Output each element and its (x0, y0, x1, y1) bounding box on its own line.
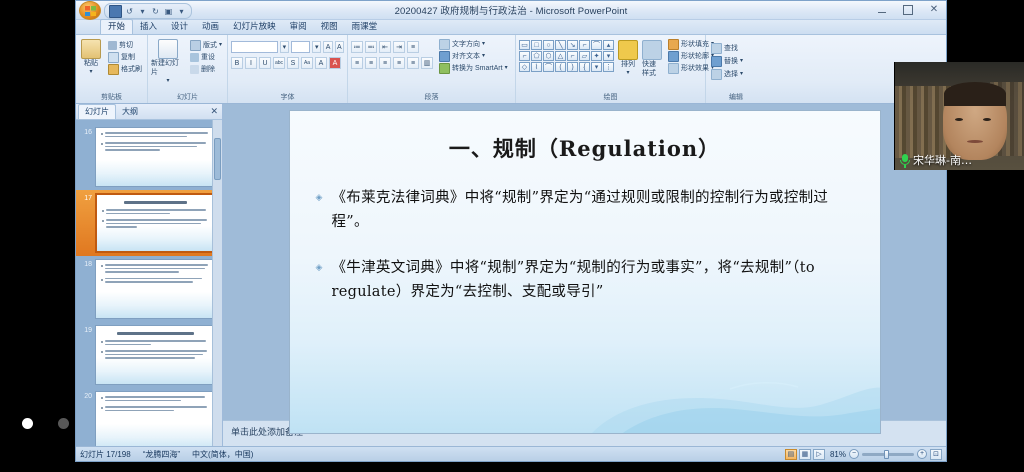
scrollbar-thumb[interactable] (214, 138, 221, 180)
bullets-button[interactable]: ≔ (351, 41, 363, 53)
format-painter-button[interactable]: 格式刷 (106, 64, 144, 75)
tab-home[interactable]: 开始 (100, 19, 133, 34)
thumb-bullet (101, 132, 210, 139)
justify-button[interactable]: ≡ (393, 57, 405, 69)
window-title: 20200427 政府规制与行政法治 - Microsoft PowerPoin… (76, 3, 946, 17)
italic-button[interactable]: I (245, 57, 257, 69)
select-label: 选择 (724, 69, 738, 80)
work-area: 幻灯片 大纲 ✕ 16 17 (76, 104, 946, 446)
zoom-out-button[interactable]: − (849, 449, 859, 459)
view-sorter-button[interactable]: ▦ (799, 449, 811, 460)
distribute-button[interactable]: ≡ (407, 57, 419, 69)
thumb-bullet (101, 142, 210, 153)
shadow-button[interactable]: S (287, 57, 299, 69)
replace-dropdown-icon[interactable]: ▾ (740, 56, 743, 67)
shape-callout-icon[interactable]: ▱ (579, 51, 590, 61)
view-slideshow-button[interactable]: ▷ (813, 449, 825, 460)
thumbnail-number: 17 (78, 193, 95, 202)
screen: ↺ ▾ ↻ ▣ ▾ 20200427 政府规制与行政法治 - Microsoft… (0, 0, 1024, 472)
select-dropdown-icon[interactable]: ▾ (740, 69, 743, 80)
increase-indent-button[interactable]: ⇥ (393, 41, 405, 53)
quick-styles-icon (642, 40, 662, 60)
replace-icon (711, 56, 722, 67)
thumbnail-19[interactable]: 19 (76, 322, 222, 388)
shape-flow-icon[interactable]: ⌇ (531, 62, 542, 72)
speaker-hair (944, 82, 1006, 106)
ribbon-group-paragraph: ≔ ≕ ⇤ ⇥ ≡ ≡ ≡ ≡ ≡ ≡ ▥ (348, 35, 516, 103)
thumbnail-list[interactable]: 16 17 (76, 120, 222, 446)
shape-diamond-icon[interactable]: ◇ (519, 62, 530, 72)
maximize-icon (903, 5, 913, 15)
tab-outline-pane[interactable]: 大纲 (116, 105, 144, 119)
tab-design[interactable]: 设计 (164, 20, 195, 34)
bold-button[interactable]: B (231, 57, 243, 69)
tab-animations[interactable]: 动画 (195, 20, 226, 34)
tab-slideshow[interactable]: 幻灯片放映 (226, 20, 283, 34)
shape-more-icon[interactable]: ▾ (591, 62, 602, 72)
shape-pent-icon[interactable]: ⬠ (531, 51, 542, 61)
thumbnail-number: 18 (78, 259, 95, 268)
shape-paren2-icon[interactable]: ) (567, 62, 578, 72)
replace-label: 替换 (724, 56, 738, 67)
text-direction-icon (439, 39, 450, 50)
thumbnail-preview (95, 391, 216, 446)
copy-button[interactable]: 复制 (106, 52, 144, 63)
shape-square-icon[interactable]: □ (531, 40, 542, 50)
paintbrush-icon (108, 64, 119, 75)
layout-button[interactable]: 版式 ▾ (188, 40, 224, 51)
shape-curve-icon[interactable]: ⌒ (591, 40, 602, 50)
smartart-dropdown-icon[interactable]: ▾ (505, 63, 508, 74)
shape-outline-label: 形状轮廓 (681, 51, 709, 62)
font-color-button[interactable]: A (329, 57, 341, 69)
shape-elbow-icon[interactable]: ⌐ (519, 51, 530, 61)
fit-to-window-button[interactable]: ⊡ (930, 449, 942, 460)
quick-styles-label: 快速样式 (642, 60, 662, 78)
slide-bullet-2-text: 《牛津英文词典》中将“规制”界定为“规制的行为或事实”，将“去规制”（to re… (332, 257, 856, 305)
text-direction-dropdown-icon[interactable]: ▾ (482, 39, 485, 50)
shape-rect-icon[interactable]: ▭ (519, 40, 530, 50)
thumbnail-18[interactable]: 18 (76, 256, 222, 322)
thumbnail-number: 19 (78, 325, 95, 334)
group-label-slides: 幻灯片 (148, 93, 227, 103)
group-label-drawing: 绘图 (516, 93, 705, 103)
align-right-button[interactable]: ≡ (379, 57, 391, 69)
select-button[interactable]: 选择 ▾ (709, 69, 763, 80)
shape-arc-icon[interactable]: ⌒ (543, 62, 554, 72)
group-label-clipboard: 剪贴板 (76, 93, 147, 103)
panel-tabs: 幻灯片 大纲 ✕ (76, 104, 222, 120)
thumbnail-preview (95, 127, 216, 187)
font-size-input[interactable] (291, 41, 310, 53)
align-left-button[interactable]: ≡ (351, 57, 363, 69)
bullet-glyph-icon: ◈ (316, 263, 325, 305)
dot-2[interactable] (58, 418, 69, 429)
zoom-control: 81% − + ⊡ (830, 449, 942, 460)
slide-canvas[interactable]: 一、规制（Regulation） ◈ 《布莱克法律词典》中将“规制”界定为“通过… (223, 104, 946, 420)
speaker-eye-right (983, 118, 991, 121)
speaker-mouth (967, 140, 983, 143)
new-slide-button[interactable]: 新建幻灯片 ▾ (151, 39, 185, 86)
find-icon (711, 43, 722, 54)
status-language[interactable]: 中文(简体，中国) (192, 449, 253, 460)
select-icon (711, 69, 722, 80)
layout-label: 版式 (203, 40, 217, 51)
zoom-in-button[interactable]: + (917, 449, 927, 459)
shape-oval-icon[interactable]: ○ (543, 40, 554, 50)
maximize-button[interactable] (898, 2, 918, 17)
layout-dropdown-icon[interactable]: ▾ (219, 40, 222, 51)
status-theme[interactable]: “龙腾四海” (143, 449, 180, 460)
ribbon-group-clipboard: 粘贴 ▾ 剪切 复制 格式刷 (76, 35, 148, 103)
thumbnail-preview (95, 325, 216, 385)
slide-thumbnail-panel: 幻灯片 大纲 ✕ 16 17 (76, 104, 223, 446)
cut-button[interactable]: 剪切 (106, 40, 144, 51)
reset-icon (190, 53, 199, 62)
shape-tri-icon[interactable]: △ (555, 51, 566, 61)
delete-slide-button[interactable]: 删除 (188, 64, 224, 75)
columns-button[interactable]: ▥ (421, 57, 433, 69)
status-bar: 幻灯片 17/198 “龙腾四海” 中文(简体，中国) ▤ ▦ ▷ 81% − … (76, 446, 946, 461)
change-case-button[interactable]: A (315, 57, 327, 69)
ribbon-group-slides: 新建幻灯片 ▾ 版式 ▾ 重设 (148, 35, 228, 103)
align-text-label: 对齐文本 (452, 51, 480, 62)
cut-label: 剪切 (119, 40, 133, 51)
bullet-glyph-icon: ◈ (316, 193, 325, 235)
group-label-editing: 编辑 (706, 93, 766, 103)
zoom-slider-thumb[interactable] (884, 450, 889, 459)
current-slide[interactable]: 一、规制（Regulation） ◈ 《布莱克法律词典》中将“规制”界定为“通过… (289, 110, 881, 434)
convert-smartart-button[interactable]: 转换为 SmartArt ▾ (437, 63, 510, 74)
thumb-bullet (101, 350, 210, 361)
strikethrough-button[interactable]: abc (273, 57, 285, 69)
shapes-gallery[interactable]: ▭ □ ○ ╲ ↘ ⌐ ⌒ ▴ ⌐ ⬠ ⬡ △ ⌐ ▱ ✦ (519, 40, 614, 72)
align-text-dropdown-icon[interactable]: ▾ (482, 51, 485, 62)
find-label: 查找 (724, 43, 738, 54)
shape-star-icon[interactable]: ✦ (591, 51, 602, 61)
scissors-icon (108, 41, 117, 50)
delete-icon (190, 65, 199, 74)
powerpoint-window: ↺ ▾ ↻ ▣ ▾ 20200427 政府规制与行政法治 - Microsoft… (75, 0, 947, 462)
slide-stage: 一、规制（Regulation） ◈ 《布莱克法律词典》中将“规制”界定为“通过… (223, 104, 946, 446)
replace-button[interactable]: 替换 ▾ (709, 56, 763, 67)
title-bar: ↺ ▾ ↻ ▣ ▾ 20200427 政府规制与行政法治 - Microsoft… (76, 1, 946, 20)
paste-label: 粘贴 (84, 59, 98, 68)
slide-title[interactable]: 一、规制（Regulation） (290, 133, 880, 163)
shape-scroll-down-icon[interactable]: ▾ (603, 51, 614, 61)
tab-insert[interactable]: 插入 (133, 20, 164, 34)
close-icon: ✕ (930, 4, 938, 15)
microphone-icon[interactable] (898, 153, 911, 168)
ribbon-group-font: ▾ ▾ A A B I U abc S Aa A A 字体 (228, 35, 348, 103)
new-slide-dropdown-icon[interactable]: ▾ (166, 77, 169, 86)
tab-review[interactable]: 审阅 (283, 20, 314, 34)
shape-fill-icon (668, 39, 679, 50)
paste-dropdown-icon[interactable]: ▾ (89, 68, 92, 77)
ribbon-group-drawing: ▭ □ ○ ╲ ↘ ⌐ ⌒ ▴ ⌐ ⬠ ⬡ △ ⌐ ▱ ✦ (516, 35, 706, 103)
arrange-button[interactable]: 排列 ▾ (618, 40, 638, 78)
webcam-participant-name: 宋华琳-南… (913, 152, 972, 168)
slide-body[interactable]: ◈ 《布莱克法律词典》中将“规制”界定为“通过规则或限制的控制行为或控制过程”。… (316, 187, 856, 305)
delete-label: 删除 (201, 64, 215, 75)
align-text-button[interactable]: 对齐文本 ▾ (437, 51, 510, 62)
shape-scroll-up-icon[interactable]: ▴ (603, 40, 614, 50)
thumbnail-17[interactable]: 17 (76, 190, 222, 256)
shape-line-icon[interactable]: ╲ (555, 40, 566, 50)
thumbnail-20[interactable]: 20 (76, 388, 222, 446)
arrange-dropdown-icon[interactable]: ▾ (626, 69, 629, 78)
minimize-button[interactable] (872, 2, 892, 17)
character-spacing-button[interactable]: Aa (301, 57, 313, 69)
find-button[interactable]: 查找 (709, 43, 763, 54)
thumb-bullet (102, 219, 209, 230)
dot-1[interactable] (22, 418, 33, 429)
thumbnail-preview-selected (95, 193, 216, 253)
minimize-icon (878, 12, 886, 13)
paste-button[interactable]: 粘贴 ▾ (79, 39, 103, 77)
copy-label: 复制 (121, 52, 135, 63)
shape-fill-label: 形状填充 (681, 39, 709, 50)
webcam-overlay[interactable]: 宋华琳-南… (894, 62, 1024, 170)
group-label-font: 字体 (228, 93, 347, 103)
line-spacing-button[interactable]: ≡ (407, 41, 419, 53)
numbering-button[interactable]: ≕ (365, 41, 377, 53)
shape-gallery-more-icon[interactable]: ⋮ (603, 62, 614, 72)
thumb-bullet (101, 264, 210, 275)
zoom-slider[interactable] (862, 453, 914, 456)
close-button[interactable]: ✕ (924, 2, 944, 17)
view-normal-button[interactable]: ▤ (785, 449, 797, 460)
tab-rain-classroom[interactable]: 雨课堂 (345, 20, 385, 34)
shape-paren-icon[interactable]: ( (555, 62, 566, 72)
shape-brace-icon[interactable]: { (579, 62, 590, 72)
thumb-bullet (101, 406, 210, 413)
thumb-bullet (102, 209, 209, 216)
paste-icon (81, 39, 101, 59)
thumb-bullet (101, 278, 210, 285)
font-size-dropdown-icon[interactable]: ▾ (312, 41, 321, 53)
webcam-name-bar: 宋华琳-南… (895, 150, 1024, 170)
format-painter-label: 格式刷 (121, 64, 142, 75)
copy-icon (108, 52, 119, 63)
decrease-indent-button[interactable]: ⇤ (379, 41, 391, 53)
layout-icon (190, 40, 201, 51)
shape-hex-icon[interactable]: ⬡ (543, 51, 554, 61)
thumb-bullet (101, 340, 210, 347)
convert-smartart-label: 转换为 SmartArt (452, 63, 503, 74)
slide-bullet-2[interactable]: ◈ 《牛津英文词典》中将“规制”界定为“规制的行为或事实”，将“去规制”（to … (316, 257, 856, 305)
view-buttons: ▤ ▦ ▷ (785, 449, 825, 460)
align-text-icon (439, 51, 450, 62)
new-slide-icon (158, 39, 178, 59)
shape-outline-icon (668, 51, 679, 62)
thumbnail-16[interactable]: 16 (76, 124, 222, 190)
speaker-eye-left (955, 118, 963, 121)
slide-bullet-1[interactable]: ◈ 《布莱克法律词典》中将“规制”界定为“通过规则或限制的控制行为或控制过程”。 (316, 187, 856, 235)
zoom-level-label[interactable]: 81% (830, 450, 846, 459)
tab-slides-pane[interactable]: 幻灯片 (78, 104, 116, 119)
decrease-font-size-button[interactable]: A (335, 41, 344, 53)
underline-button[interactable]: U (259, 57, 271, 69)
close-pane-icon[interactable]: ✕ (210, 106, 218, 117)
thumbnail-scrollbar[interactable] (212, 120, 222, 446)
shape-conn-icon[interactable]: ⌐ (579, 40, 590, 50)
tab-view[interactable]: 视图 (314, 20, 345, 34)
reset-label: 重设 (201, 52, 215, 63)
increase-font-size-button[interactable]: A (323, 41, 332, 53)
font-name-input[interactable] (231, 41, 278, 53)
shape-arrow-icon[interactable]: ↘ (567, 40, 578, 50)
shape-effects-label: 形状效果 (681, 63, 709, 74)
thumbnail-number: 20 (78, 391, 95, 400)
reset-button[interactable]: 重设 (188, 52, 224, 63)
wave-decoration-icon (290, 343, 880, 433)
status-slide-count[interactable]: 幻灯片 17/198 (80, 449, 131, 460)
shape-effects-icon (668, 63, 679, 74)
align-center-button[interactable]: ≡ (365, 57, 377, 69)
window-controls: ✕ (872, 2, 944, 17)
ribbon: 粘贴 ▾ 剪切 复制 格式刷 (76, 35, 946, 104)
thumb-bullet (101, 396, 210, 403)
shape-bracket-icon[interactable]: ⌐ (567, 51, 578, 61)
thumbnail-preview (95, 259, 216, 319)
group-label-paragraph: 段落 (348, 93, 515, 103)
arrange-label: 排列 (621, 60, 635, 69)
quick-styles-button[interactable]: 快速样式 (642, 40, 662, 78)
slide-background-waves (290, 343, 880, 433)
ribbon-group-editing: 查找 替换 ▾ 选择 ▾ 编辑 (706, 35, 766, 103)
ribbon-tabs: 开始 插入 设计 动画 幻灯片放映 审阅 视图 雨课堂 (76, 20, 946, 35)
thumbnail-number: 16 (78, 127, 95, 136)
arrange-icon (618, 40, 638, 60)
font-name-dropdown-icon[interactable]: ▾ (280, 41, 289, 53)
new-slide-label: 新建幻灯片 (151, 59, 185, 77)
slide-bullet-1-text: 《布莱克法律词典》中将“规制”界定为“通过规则或限制的控制行为或控制过程”。 (332, 187, 856, 235)
text-direction-button[interactable]: 文字方向 ▾ (437, 39, 510, 50)
text-direction-label: 文字方向 (452, 39, 480, 50)
smartart-icon (439, 63, 450, 74)
